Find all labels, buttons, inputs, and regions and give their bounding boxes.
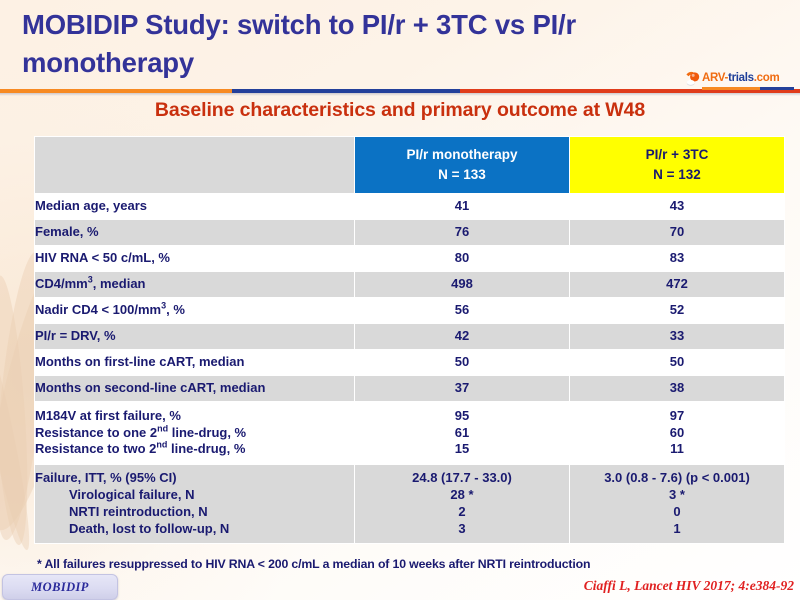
row-label: Months on first-line cART, median bbox=[35, 350, 355, 376]
row-value-combo: 97 60 11 bbox=[570, 402, 785, 465]
study-badge-label: MOBIDIP bbox=[31, 580, 89, 595]
superscript-3: 3 bbox=[88, 275, 93, 285]
table-row: PI/r = DRV, % 42 33 bbox=[35, 324, 785, 350]
table-row-failure: Failure, ITT, % (95% CI) Virological fai… bbox=[35, 465, 785, 544]
failure-combo-0: 3.0 (0.8 - 7.6) (p < 0.001) bbox=[570, 470, 784, 487]
slide-title: MOBIDIP Study: switch to PI/r + 3TC vs P… bbox=[22, 6, 662, 82]
table-row: Nadir CD4 < 100/mm3, % 56 52 bbox=[35, 298, 785, 324]
failure-label-2: NRTI reintroduction, N bbox=[35, 504, 354, 521]
failure-mono-1: 28 * bbox=[355, 487, 569, 504]
row-value-monotherapy: 42 bbox=[355, 324, 570, 350]
logo-text-trials: trials bbox=[728, 72, 754, 84]
table-row: Median age, years 41 43 bbox=[35, 194, 785, 220]
table-header-row: PI/r monotherapy N = 133 PI/r + 3TC N = … bbox=[35, 137, 785, 194]
row-value-combo: 52 bbox=[570, 298, 785, 324]
watermark-stroke bbox=[0, 275, 34, 546]
failure-combo-3: 1 bbox=[570, 521, 784, 538]
resistance-mono-0: 95 bbox=[355, 408, 569, 425]
table-row: HIV RNA < 50 c/mL, % 80 83 bbox=[35, 246, 785, 272]
resistance-combo-0: 97 bbox=[570, 408, 784, 425]
row-value-combo: 83 bbox=[570, 246, 785, 272]
row-value-combo: 33 bbox=[570, 324, 785, 350]
row-label: Female, % bbox=[35, 220, 355, 246]
row-value-monotherapy: 24.8 (17.7 - 33.0) 28 * 2 3 bbox=[355, 465, 570, 544]
resistance-combo-2: 11 bbox=[570, 441, 784, 458]
logo-wordmark: ARV-trials.com bbox=[702, 72, 779, 84]
row-label: Median age, years bbox=[35, 194, 355, 220]
pill-capsule-icon bbox=[684, 70, 702, 88]
row-label: M184V at first failure, % Resistance to … bbox=[35, 402, 355, 465]
table-header-combo: PI/r + 3TC N = 132 bbox=[570, 137, 785, 194]
resistance-mono-2: 15 bbox=[355, 441, 569, 458]
row-value-combo: 38 bbox=[570, 376, 785, 402]
row-label: CD4/mm3, median bbox=[35, 272, 355, 298]
study-badge[interactable]: MOBIDIP bbox=[2, 574, 118, 600]
row-value-monotherapy: 50 bbox=[355, 350, 570, 376]
superscript-nd: nd bbox=[156, 440, 167, 450]
superscript-3: 3 bbox=[161, 301, 166, 311]
superscript-nd: nd bbox=[157, 423, 168, 433]
row-label: PI/r = DRV, % bbox=[35, 324, 355, 350]
slide-subtitle: Baseline characteristics and primary out… bbox=[0, 99, 800, 122]
failure-combo-1: 3 * bbox=[570, 487, 784, 504]
row-value-monotherapy: 41 bbox=[355, 194, 570, 220]
table-row: Months on second-line cART, median 37 38 bbox=[35, 376, 785, 402]
resistance-label-0: M184V at first failure, % bbox=[35, 408, 354, 425]
header-n-monotherapy: N = 133 bbox=[355, 165, 569, 185]
row-value-monotherapy: 37 bbox=[355, 376, 570, 402]
failure-combo-2: 0 bbox=[570, 504, 784, 521]
row-value-monotherapy: 56 bbox=[355, 298, 570, 324]
table-footnote: * All failures resuppressed to HIV RNA <… bbox=[37, 557, 590, 571]
table-header-monotherapy: PI/r monotherapy N = 133 bbox=[355, 137, 570, 194]
resistance-mono-1: 61 bbox=[355, 425, 569, 442]
failure-label-0: Failure, ITT, % (95% CI) bbox=[35, 470, 354, 487]
row-value-combo: 50 bbox=[570, 350, 785, 376]
row-value-monotherapy: 76 bbox=[355, 220, 570, 246]
logo-text-com: .com bbox=[754, 72, 780, 84]
divider-shadow bbox=[0, 93, 800, 96]
table-row-resistance: M184V at first failure, % Resistance to … bbox=[35, 402, 785, 465]
failure-mono-2: 2 bbox=[355, 504, 569, 521]
logo-underline bbox=[702, 87, 794, 90]
arv-trials-logo[interactable]: ARV-trials.com bbox=[676, 69, 796, 91]
header-label-monotherapy: PI/r monotherapy bbox=[355, 145, 569, 165]
logo-underline-orange bbox=[702, 87, 760, 90]
row-label: Months on second-line cART, median bbox=[35, 376, 355, 402]
table-row: Female, % 76 70 bbox=[35, 220, 785, 246]
row-label: Failure, ITT, % (95% CI) Virological fai… bbox=[35, 465, 355, 544]
watermark-stroke bbox=[0, 303, 38, 552]
row-value-monotherapy: 498 bbox=[355, 272, 570, 298]
row-value-combo: 43 bbox=[570, 194, 785, 220]
table-header-blank bbox=[35, 137, 355, 194]
logo-underline-blue bbox=[760, 87, 794, 90]
results-table: PI/r monotherapy N = 133 PI/r + 3TC N = … bbox=[34, 136, 785, 544]
resistance-label-2: Resistance to two 2nd line-drug, % bbox=[35, 441, 354, 458]
table-row: Months on first-line cART, median 50 50 bbox=[35, 350, 785, 376]
citation-reference: Ciaffi L, Lancet HIV 2017; 4:e384-92 bbox=[584, 578, 794, 594]
row-label: HIV RNA < 50 c/mL, % bbox=[35, 246, 355, 272]
row-value-combo: 472 bbox=[570, 272, 785, 298]
resistance-label-1: Resistance to one 2nd line-drug, % bbox=[35, 425, 354, 442]
row-value-combo: 3.0 (0.8 - 7.6) (p < 0.001) 3 * 0 1 bbox=[570, 465, 785, 544]
header-n-combo: N = 132 bbox=[570, 165, 784, 185]
row-value-monotherapy: 80 bbox=[355, 246, 570, 272]
failure-mono-3: 3 bbox=[355, 521, 569, 538]
failure-label-3: Death, lost to follow-up, N bbox=[35, 521, 354, 538]
header-label-combo: PI/r + 3TC bbox=[570, 145, 784, 165]
resistance-combo-1: 60 bbox=[570, 425, 784, 442]
table-row: CD4/mm3, median 498 472 bbox=[35, 272, 785, 298]
slide-canvas: MOBIDIP Study: switch to PI/r + 3TC vs P… bbox=[0, 0, 800, 600]
failure-label-1: Virological failure, N bbox=[35, 487, 354, 504]
failure-mono-0: 24.8 (17.7 - 33.0) bbox=[355, 470, 569, 487]
row-label: Nadir CD4 < 100/mm3, % bbox=[35, 298, 355, 324]
logo-text-arv: ARV- bbox=[702, 72, 728, 84]
row-value-combo: 70 bbox=[570, 220, 785, 246]
results-table-container: PI/r monotherapy N = 133 PI/r + 3TC N = … bbox=[34, 136, 784, 544]
row-value-monotherapy: 95 61 15 bbox=[355, 402, 570, 465]
